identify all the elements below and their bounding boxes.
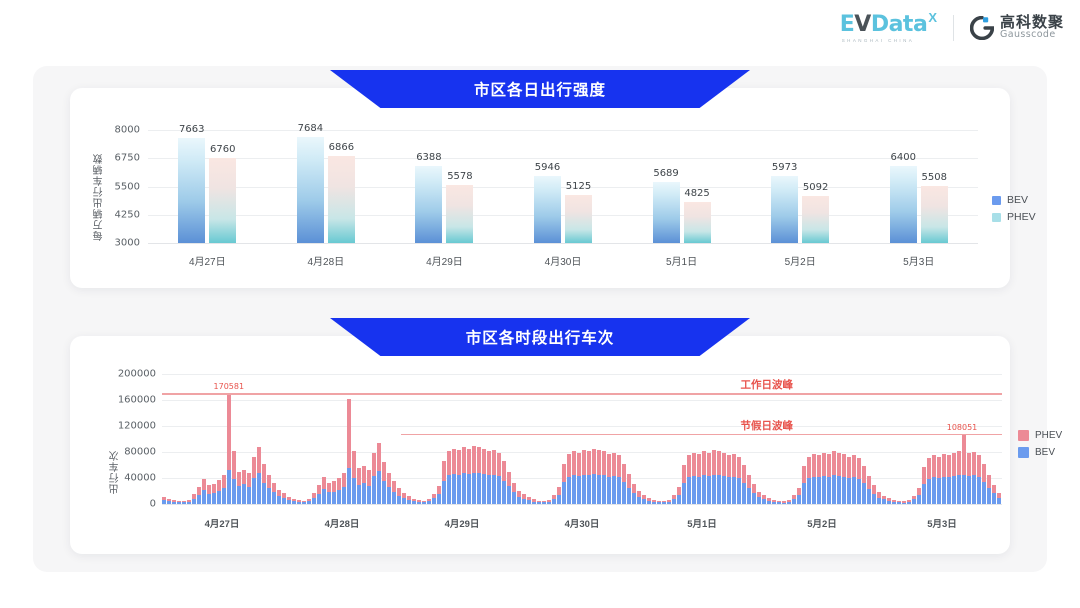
hour-bar-phev <box>492 450 496 475</box>
grid-line <box>162 374 1002 375</box>
hour-bar-bev <box>817 477 821 504</box>
hour-bar <box>187 500 191 504</box>
hour-bar-phev <box>227 393 231 470</box>
hour-bar <box>422 501 426 504</box>
hour-bar <box>967 453 971 504</box>
hour-bar-bev <box>912 499 916 504</box>
y-axis-tick: 5500 <box>104 181 140 192</box>
hour-bar-bev <box>607 477 611 504</box>
hour-bar-bev <box>367 486 371 504</box>
bar-value-label: 5689 <box>653 168 678 179</box>
hour-bar-bev <box>242 484 246 504</box>
hour-bar <box>172 500 176 504</box>
hour-bar-bev <box>872 494 876 504</box>
hour-bar-bev <box>422 502 426 504</box>
hour-bar <box>257 447 261 504</box>
hour-bar-phev <box>957 451 961 475</box>
hour-bar-bev <box>617 477 621 504</box>
hour-bar <box>612 453 616 504</box>
hour-bar-phev <box>847 457 851 478</box>
hour-bar <box>977 455 981 504</box>
hour-bar-phev <box>337 478 341 490</box>
brand-logos: EVData X SHANGHAI CHINA 高科数聚 Gausscode <box>840 12 1064 43</box>
hour-bar-phev <box>677 487 681 494</box>
bar-value-label: 6866 <box>329 142 354 153</box>
hour-bar-bev <box>742 483 746 504</box>
hour-bar <box>907 500 911 504</box>
hour-bar <box>657 501 661 504</box>
legend-item[interactable]: PHEV <box>1018 430 1062 441</box>
hour-bar-phev <box>987 475 991 488</box>
hour-bar <box>577 453 581 504</box>
hour-bar <box>347 399 351 504</box>
hour-bar <box>992 485 996 505</box>
hour-bar-phev <box>627 474 631 488</box>
hour-bar-bev <box>197 495 201 504</box>
hour-bar <box>752 484 756 504</box>
grid-line <box>162 504 1002 505</box>
hour-bar-bev <box>587 475 591 504</box>
hour-bar <box>167 499 171 504</box>
hour-bar-phev <box>317 485 321 494</box>
hour-bar <box>692 453 696 504</box>
hour-bar-phev <box>482 449 486 474</box>
grid-line <box>148 215 978 216</box>
bar-chart-daily: 每万辆出行车辆数30004250550067508000766367604月27… <box>70 88 1010 288</box>
hour-bar-phev <box>682 465 686 483</box>
bar-bev <box>178 138 205 243</box>
hour-bar-bev <box>292 501 296 504</box>
hour-bar <box>952 453 956 504</box>
hour-bar-bev <box>687 477 691 504</box>
legend-swatch <box>992 213 1001 222</box>
hour-bar-phev <box>397 488 401 495</box>
hour-bar-bev <box>222 488 226 504</box>
hour-bar-phev <box>327 483 331 493</box>
hour-bar-phev <box>267 475 271 488</box>
hour-bar-bev <box>227 470 231 504</box>
hour-bar-bev <box>682 483 686 504</box>
hour-bar-phev <box>937 457 941 478</box>
hour-bar-phev <box>597 450 601 475</box>
hour-bar-phev <box>602 451 606 475</box>
hour-bar-bev <box>257 473 261 504</box>
hour-bar-bev <box>892 502 896 504</box>
hour-bar <box>287 497 291 504</box>
stacked-bar-chart-hourly: 出行车次04000080000120000160000200000工作日波峰节假… <box>70 336 1010 554</box>
hour-bar <box>237 472 241 504</box>
section-title-banner-2: 市区各时段出行车次 <box>330 318 750 356</box>
hour-bar-bev <box>467 474 471 504</box>
hour-bar <box>792 495 796 504</box>
hour-bar-bev <box>182 502 186 504</box>
hour-bar <box>742 465 746 504</box>
hour-bar-bev <box>312 498 316 504</box>
hour-bar <box>322 477 326 504</box>
legend-item[interactable]: BEV <box>992 194 1036 206</box>
hour-bar-phev <box>972 452 976 475</box>
hour-bar-bev <box>752 493 756 504</box>
hour-bar <box>197 487 201 504</box>
y-axis-tick: 200000 <box>116 369 156 380</box>
hour-bar <box>597 450 601 504</box>
bar-bev <box>890 166 917 243</box>
legend-label: PHEV <box>1035 430 1062 441</box>
hour-bar <box>607 454 611 504</box>
hour-bar <box>202 479 206 504</box>
hour-bar <box>677 487 681 504</box>
hour-bar-bev <box>642 499 646 504</box>
hour-bar-bev <box>832 475 836 504</box>
hour-bar <box>762 495 766 504</box>
x-axis-tick: 5月1日 <box>666 253 697 268</box>
x-axis-tick: 4月29日 <box>426 253 463 268</box>
hour-bar-bev <box>772 502 776 504</box>
hour-bar <box>807 457 811 504</box>
hour-bar-bev <box>212 493 216 504</box>
hour-bar-phev <box>817 455 821 477</box>
hour-bar <box>857 458 861 504</box>
hour-bar <box>472 446 476 504</box>
hour-bar <box>382 462 386 504</box>
annotation-label: 节假日波峰 <box>741 418 794 433</box>
bar-phev <box>684 202 711 243</box>
hour-bar-bev <box>297 502 301 504</box>
hour-bar <box>247 473 251 504</box>
hour-bar-phev <box>977 455 981 477</box>
hour-bar-bev <box>517 497 521 504</box>
hour-bar-phev <box>377 443 381 471</box>
hour-bar-bev <box>492 475 496 504</box>
hour-bar-bev <box>582 475 586 504</box>
hour-bar-bev <box>812 477 816 504</box>
hour-bar-phev <box>587 451 591 475</box>
hour-bar <box>532 499 536 504</box>
hour-bar-bev <box>497 476 501 504</box>
hour-bar-bev <box>337 490 341 504</box>
hour-bar <box>777 501 781 504</box>
hour-bar <box>867 476 871 504</box>
hour-bar-bev <box>577 476 581 504</box>
hour-bar-bev <box>252 478 256 504</box>
hour-bar-bev <box>272 492 276 504</box>
hour-bar <box>872 485 876 504</box>
hour-bar-phev <box>352 451 356 478</box>
hour-bar <box>267 475 271 504</box>
hour-bar-phev <box>367 470 371 486</box>
hour-bar-bev <box>757 497 761 504</box>
y-axis-tick: 40000 <box>116 473 156 484</box>
hour-bar-phev <box>747 475 751 488</box>
hour-bar-bev <box>302 502 306 504</box>
gausscode-logo: 高科数聚 Gausscode <box>970 15 1064 41</box>
y-axis-tick: 4250 <box>104 209 140 220</box>
x-axis-tick: 5月3日 <box>927 516 957 530</box>
hour-bar <box>567 454 571 504</box>
bar-phev <box>802 196 829 243</box>
hour-bar <box>627 474 631 504</box>
hour-bar-phev <box>812 454 816 477</box>
hour-bar-phev <box>347 399 351 467</box>
grid-line <box>148 130 978 131</box>
hour-bar-phev <box>582 450 586 475</box>
bar-phev <box>921 186 948 243</box>
hour-bar <box>357 468 361 504</box>
hour-bar-phev <box>332 481 336 491</box>
hour-bar-phev <box>992 485 996 494</box>
hour-bar-bev <box>267 488 271 504</box>
y-axis-tick: 8000 <box>104 125 140 136</box>
hour-bar <box>997 493 1001 504</box>
hour-bar-bev <box>317 494 321 504</box>
hour-bar <box>317 485 321 504</box>
hour-bar-bev <box>647 501 651 504</box>
hour-bar <box>537 501 541 504</box>
hour-bar <box>392 481 396 504</box>
hour-bar-bev <box>392 492 396 504</box>
hour-bar-bev <box>547 502 551 504</box>
hour-bar-bev <box>462 473 466 504</box>
gausscode-cn-name: 高科数聚 <box>1000 15 1064 31</box>
hour-bar <box>982 464 986 504</box>
bar-bev <box>771 176 798 243</box>
hour-bar-phev <box>797 488 801 495</box>
hour-bar-phev <box>717 451 721 475</box>
hour-bar-bev <box>287 500 291 504</box>
hour-bar-bev <box>502 481 506 504</box>
hour-bar-phev <box>967 453 971 476</box>
x-axis-tick: 5月1日 <box>687 516 717 530</box>
hour-bar <box>717 451 721 504</box>
hour-bar-phev <box>222 475 226 488</box>
hour-bar-phev <box>342 473 346 487</box>
hour-bar-bev <box>612 476 616 504</box>
hour-bar-bev <box>857 479 861 504</box>
hour-bar-bev <box>237 486 241 504</box>
hour-bar <box>222 475 226 504</box>
annotation-value-holiday: 108051 <box>947 423 978 432</box>
hour-bar-bev <box>217 491 221 504</box>
hour-bar <box>487 451 491 504</box>
hour-bar <box>417 500 421 504</box>
hour-bar <box>302 501 306 504</box>
hour-bar-bev <box>357 485 361 505</box>
hour-bar-bev <box>207 494 211 504</box>
hour-bar-bev <box>937 478 941 504</box>
evdata-logo-subtitle: SHANGHAI CHINA <box>842 38 914 43</box>
logo-divider <box>953 15 954 41</box>
hour-bar <box>647 498 651 504</box>
hour-bar-phev <box>392 481 396 491</box>
hour-bar-bev <box>982 482 986 504</box>
hour-bar-bev <box>522 499 526 504</box>
hour-bar-phev <box>512 483 516 493</box>
x-axis-tick: 4月30日 <box>545 253 582 268</box>
hour-bar <box>477 447 481 504</box>
hour-bar <box>682 465 686 504</box>
hour-bar-bev <box>807 478 811 504</box>
bar-phev <box>328 156 355 243</box>
hour-bar <box>482 449 486 504</box>
hour-bar-bev <box>717 475 721 504</box>
hour-bar <box>192 494 196 504</box>
x-axis-tick: 4月30日 <box>565 516 600 530</box>
hour-bar-bev <box>987 488 991 504</box>
y-axis-tick: 3000 <box>104 238 140 249</box>
hour-bar-phev <box>457 450 461 475</box>
chart-legend-2: PHEVBEV <box>1018 430 1062 464</box>
hour-bar <box>922 467 926 504</box>
hour-bar-phev <box>712 450 716 475</box>
hour-bar-phev <box>207 485 211 493</box>
hour-bar-bev <box>557 495 561 504</box>
hour-bar-phev <box>382 462 386 482</box>
x-axis-tick: 4月28日 <box>325 516 360 530</box>
hour-bar-phev <box>272 483 276 493</box>
hour-bar <box>877 492 881 504</box>
hour-bar-phev <box>827 454 831 477</box>
hour-bar-phev <box>632 484 636 493</box>
hour-bar <box>912 496 916 504</box>
hour-bar-bev <box>637 497 641 504</box>
hour-bar-bev <box>852 477 856 504</box>
hour-bar <box>162 497 166 504</box>
hour-bar-bev <box>532 502 536 504</box>
legend-swatch <box>1018 430 1029 441</box>
hour-bar-phev <box>862 466 866 483</box>
hour-bar-phev <box>697 454 701 477</box>
hour-bar <box>827 454 831 504</box>
hour-bar <box>562 464 566 504</box>
bar-value-label: 6760 <box>210 144 235 155</box>
hour-bar-bev <box>442 481 446 504</box>
hour-bar-bev <box>512 492 516 504</box>
hour-bar-bev <box>627 488 631 504</box>
hour-bar-phev <box>567 454 571 477</box>
hour-bar <box>617 455 621 504</box>
hour-bar-bev <box>172 502 176 504</box>
y-axis-tick: 160000 <box>116 395 156 406</box>
hour-bar <box>552 495 556 504</box>
hour-bar <box>362 466 366 504</box>
hour-bar <box>837 453 841 504</box>
hour-bar-bev <box>697 477 701 504</box>
hour-bar-bev <box>922 484 926 504</box>
hour-bar <box>672 495 676 504</box>
hour-bar-bev <box>327 492 331 504</box>
hour-bar-phev <box>872 485 876 494</box>
hour-bar <box>522 494 526 504</box>
hour-bar <box>947 455 951 504</box>
hour-bar-bev <box>732 477 736 504</box>
hour-bar <box>852 455 856 504</box>
bar-phev <box>209 158 236 243</box>
hour-bar <box>227 393 231 504</box>
hour-bar-phev <box>832 451 836 475</box>
hour-bar-phev <box>752 484 756 493</box>
hour-bar-bev <box>457 475 461 504</box>
hour-bar-phev <box>802 466 806 483</box>
hour-bar <box>547 500 551 504</box>
section-daily-travel-intensity: 市区各日出行强度 每万辆出行车辆数30004250550067508000766… <box>70 88 1010 288</box>
hour-bar-bev <box>597 475 601 504</box>
hour-bar-bev <box>282 498 286 504</box>
hour-bar-bev <box>677 495 681 504</box>
y-axis-tick: 80000 <box>116 447 156 458</box>
hour-bar <box>697 454 701 504</box>
hour-bar-bev <box>992 493 996 504</box>
hour-bar <box>467 449 471 504</box>
hour-bar <box>502 461 506 504</box>
gausscode-en-name: Gausscode <box>1000 30 1064 40</box>
hour-bar-phev <box>497 453 501 476</box>
hour-bar-bev <box>762 499 766 504</box>
hour-bar <box>722 453 726 504</box>
hour-bar-bev <box>407 500 411 504</box>
hour-bar-bev <box>862 483 866 504</box>
hour-bar-bev <box>187 502 191 504</box>
evdata-logo: EVData X SHANGHAI CHINA <box>840 12 937 43</box>
hour-bar <box>297 500 301 504</box>
hour-bar-bev <box>362 483 366 504</box>
hour-bar <box>822 453 826 504</box>
hour-bar-phev <box>447 451 451 475</box>
hour-bar-phev <box>692 453 696 476</box>
hour-bar-phev <box>237 472 241 486</box>
hour-bar <box>517 491 521 504</box>
hour-bar-bev <box>767 501 771 504</box>
hour-bar-bev <box>632 493 636 504</box>
hour-bar-bev <box>837 476 841 504</box>
hour-bar <box>407 496 411 504</box>
hour-bar-bev <box>592 474 596 504</box>
legend-item[interactable]: BEV <box>1018 447 1062 458</box>
legend-item[interactable]: PHEV <box>992 211 1036 223</box>
hour-bar <box>702 451 706 504</box>
hour-bar-phev <box>822 453 826 476</box>
hour-bar <box>497 453 501 504</box>
hour-bar-phev <box>837 453 841 476</box>
hour-bar-bev <box>692 476 696 504</box>
hour-bar <box>962 434 966 504</box>
hour-bar <box>902 501 906 504</box>
grid-line <box>148 187 978 188</box>
hour-bar <box>462 447 466 504</box>
bar-phev <box>565 195 592 243</box>
hour-bar-bev <box>712 475 716 504</box>
hour-bar <box>367 470 371 504</box>
hour-bar-phev <box>577 453 581 476</box>
hour-bar <box>987 475 991 504</box>
hour-bar-bev <box>897 502 901 504</box>
x-axis-tick: 4月29日 <box>445 516 480 530</box>
hour-bar <box>342 473 346 504</box>
hour-bar <box>217 480 221 504</box>
hour-bar-phev <box>867 476 871 489</box>
hour-bar-bev <box>352 478 356 504</box>
bar-bev <box>534 176 561 243</box>
legend-label: BEV <box>1007 194 1028 206</box>
annotation-line <box>162 393 1002 395</box>
hour-bar-bev <box>487 475 491 504</box>
hour-bar-phev <box>982 464 986 482</box>
hour-bar-bev <box>437 494 441 504</box>
legend-label: PHEV <box>1007 211 1036 223</box>
hour-bar-bev <box>792 499 796 504</box>
hour-bar-phev <box>922 467 926 484</box>
hour-bar-bev <box>477 473 481 504</box>
hour-bar <box>767 498 771 504</box>
